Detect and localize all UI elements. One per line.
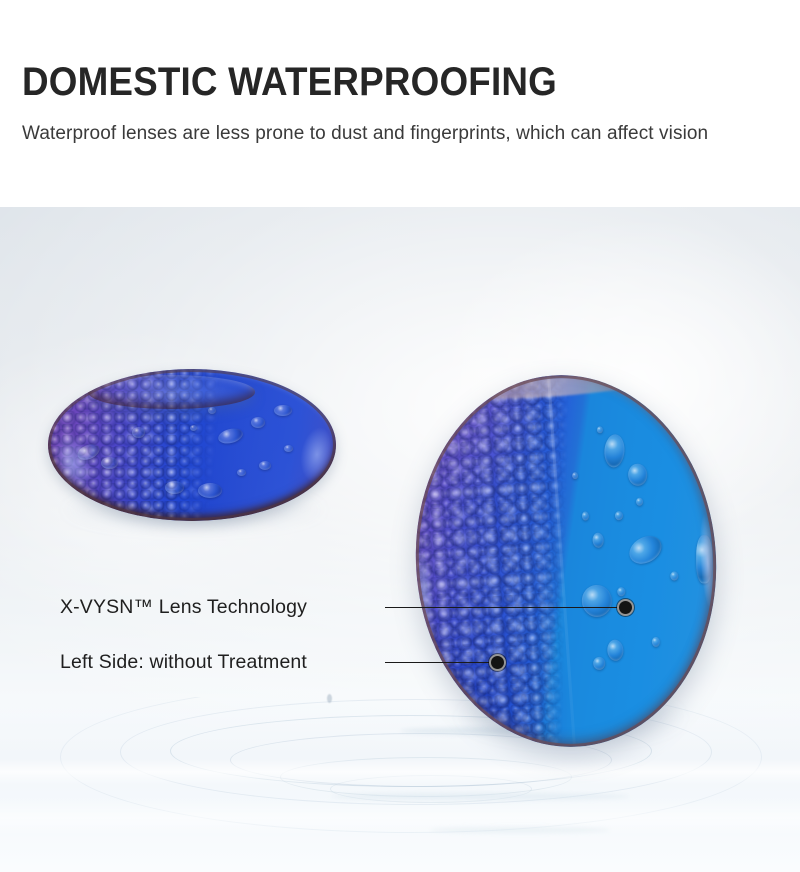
- water-glint: [327, 694, 332, 703]
- callout-technology-label: X-VYSN™ Lens Technology: [60, 596, 307, 619]
- water-sheen: [0, 801, 800, 835]
- callout-technology-dot: [617, 599, 634, 616]
- lens-small: [48, 369, 336, 521]
- lens-large-group: [416, 375, 720, 759]
- callout-untreated-label: Left Side: without Treatment: [60, 651, 307, 674]
- water-streak: [430, 827, 610, 833]
- product-feature-panel: DOMESTIC WATERPROOFING Waterproof lenses…: [0, 0, 800, 872]
- callout-untreated-leader: [385, 662, 489, 663]
- water-sheen: [0, 759, 800, 785]
- callout-untreated-dot: [489, 654, 506, 671]
- header-section: DOMESTIC WATERPROOFING Waterproof lenses…: [0, 0, 800, 207]
- lens-small-rim: [48, 369, 336, 521]
- lens-large: [403, 365, 728, 757]
- page-title: DOMESTIC WATERPROOFING: [22, 60, 557, 104]
- lens-small-group: [48, 369, 336, 534]
- callout-technology-leader: [385, 607, 617, 608]
- water-streak: [330, 793, 630, 800]
- page-subtitle: Waterproof lenses are less prone to dust…: [22, 118, 762, 150]
- product-photo: [0, 207, 800, 872]
